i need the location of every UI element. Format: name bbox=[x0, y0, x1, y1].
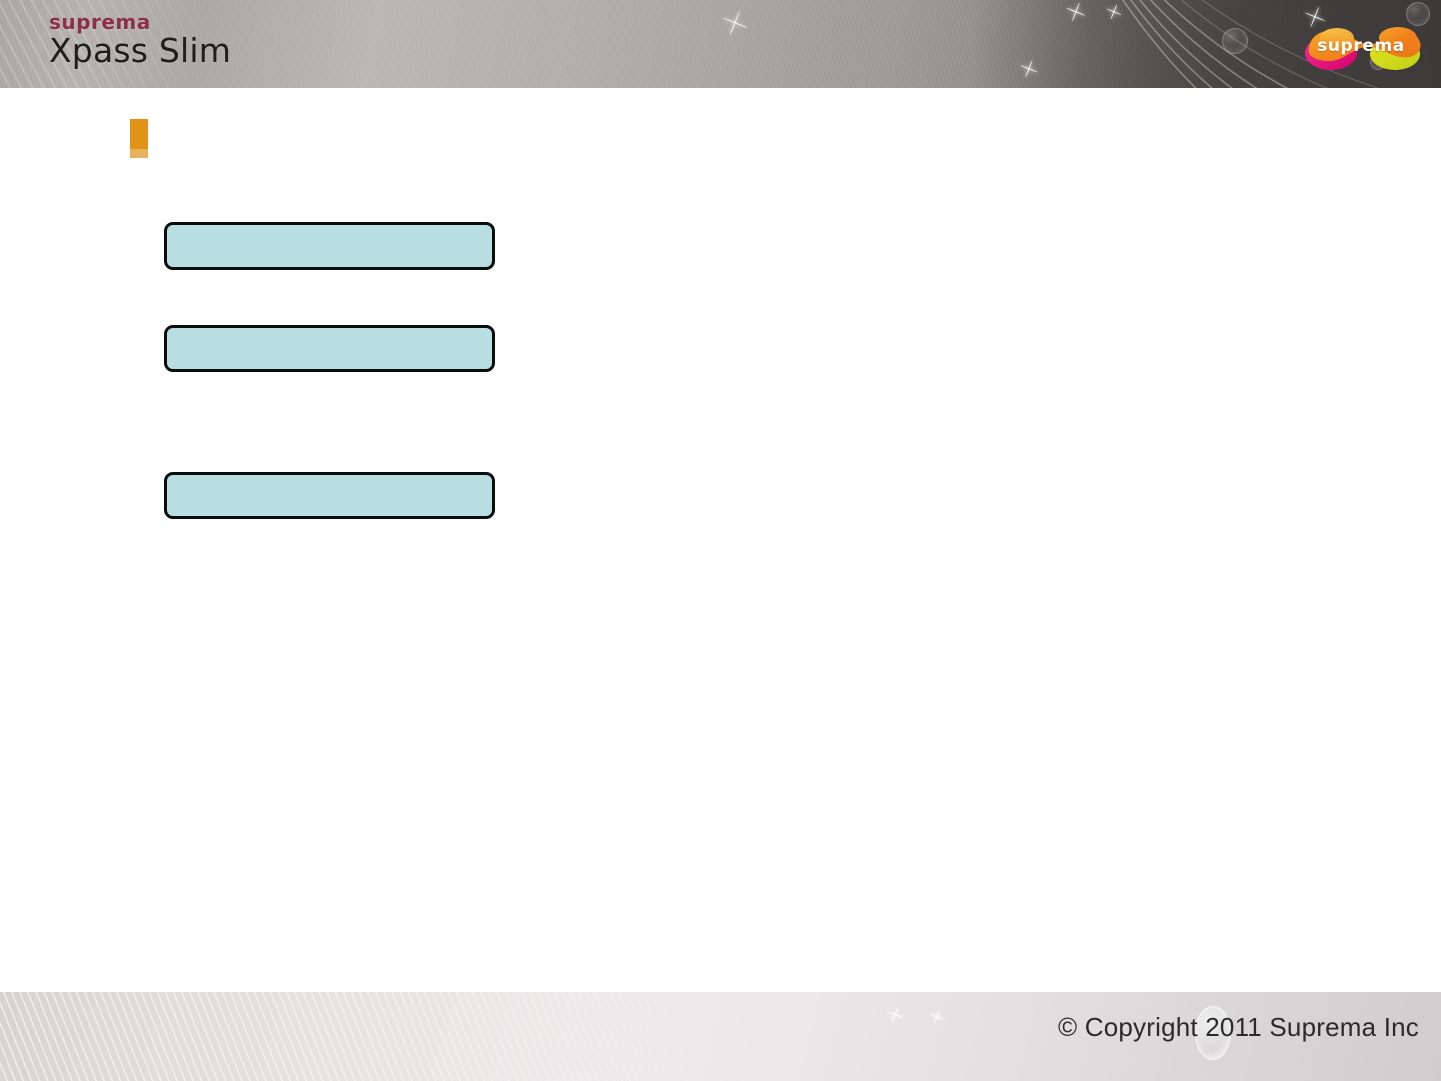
brand-block: suprema Xpass Slim bbox=[49, 12, 231, 69]
section-marker-foot bbox=[130, 149, 148, 158]
slide: suprema Xpass Slim bbox=[0, 0, 1441, 1081]
content-box-2[interactable] bbox=[164, 325, 495, 372]
slide-body bbox=[0, 88, 1441, 992]
page-title: Xpass Slim bbox=[49, 33, 231, 69]
section-marker-main bbox=[130, 119, 148, 149]
footer-line-texture bbox=[0, 992, 760, 1081]
sparkle-icon bbox=[930, 1010, 944, 1024]
brand-subtitle: suprema bbox=[49, 12, 231, 32]
sparkle-icon bbox=[886, 1006, 904, 1024]
content-box-3[interactable] bbox=[164, 472, 495, 519]
slide-header: suprema Xpass Slim bbox=[0, 0, 1441, 88]
section-marker bbox=[130, 119, 148, 158]
content-box-1[interactable] bbox=[164, 222, 495, 270]
suprema-logo: suprema bbox=[1297, 20, 1425, 72]
slide-footer: © Copyright 2011 Suprema Inc bbox=[0, 992, 1441, 1081]
copyright-text: © Copyright 2011 Suprema Inc bbox=[1058, 1012, 1419, 1043]
